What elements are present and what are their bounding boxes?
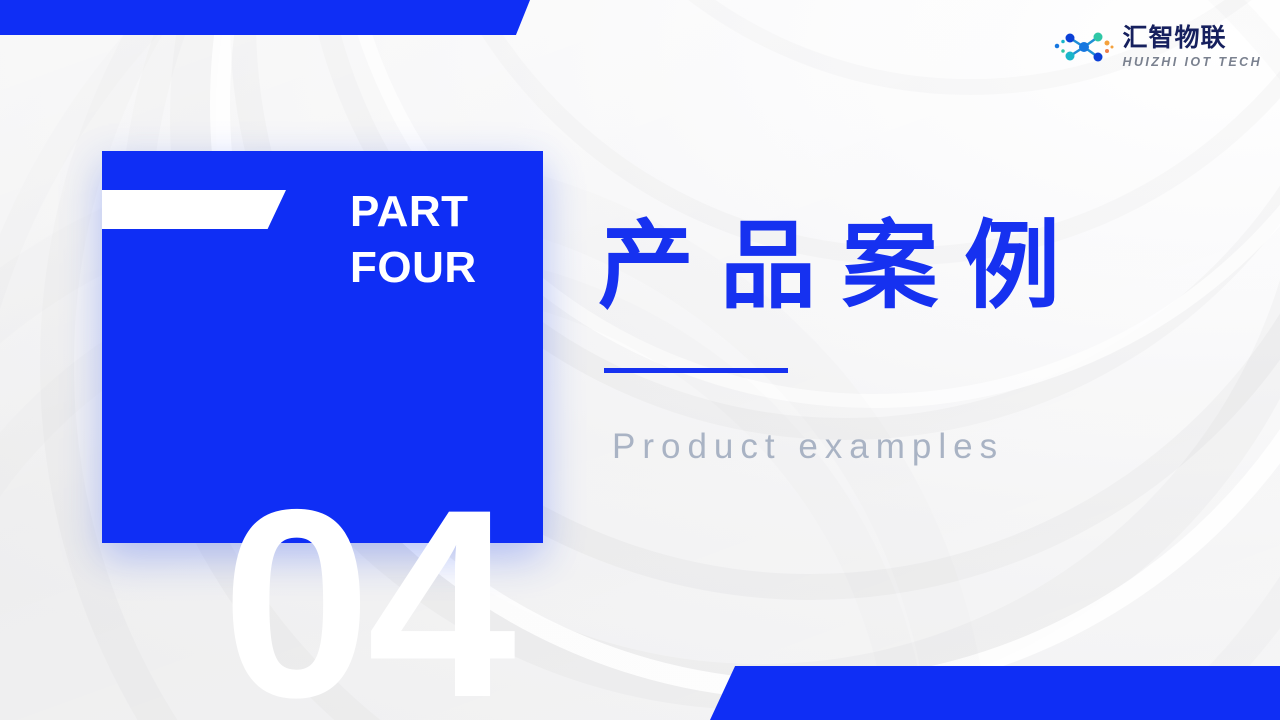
page-subtitle: Product examples — [612, 427, 1004, 467]
card-accent-slash — [102, 190, 286, 229]
part-label: PART FOUR — [350, 184, 477, 296]
bottom-accent-bar — [710, 666, 1280, 720]
chapter-card: PART FOUR 04 — [102, 151, 543, 543]
section-number: 04 — [222, 469, 512, 720]
top-accent-bar — [0, 0, 530, 35]
molecule-network-icon — [1053, 26, 1115, 68]
title-underline-rule — [604, 368, 788, 373]
slide-canvas: 汇智物联 HUIZHI IOT TECH PART FOUR 04 产品案例 P… — [0, 0, 1280, 720]
brand-name-en: HUIZHI IOT TECH — [1123, 56, 1262, 69]
page-title: 产品案例 — [598, 208, 1086, 326]
brand-logo-text: 汇智物联 HUIZHI IOT TECH — [1123, 26, 1262, 69]
brand-logo: 汇智物联 HUIZHI IOT TECH — [1053, 26, 1262, 69]
brand-name-zh: 汇智物联 — [1123, 26, 1262, 51]
